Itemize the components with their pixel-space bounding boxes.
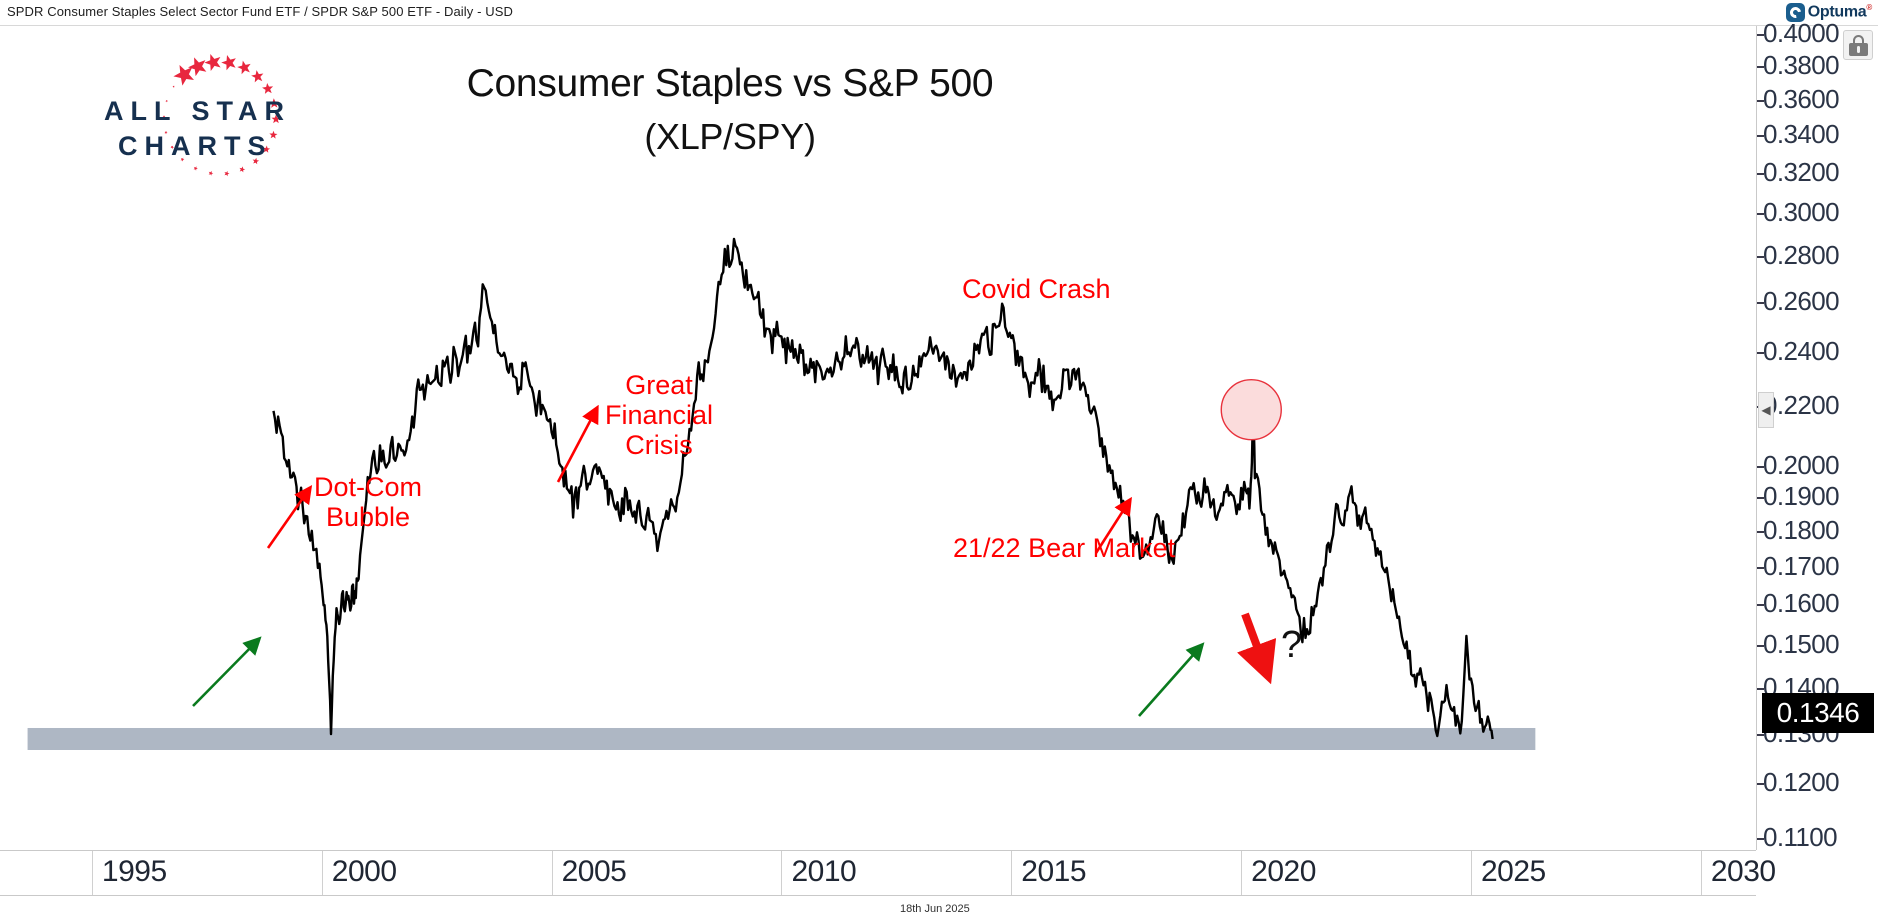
- logo-star-icon: [251, 70, 263, 82]
- annotation-covid-crash[interactable]: Covid Crash: [962, 274, 1111, 304]
- logo-star-icon: [239, 166, 245, 172]
- logo-star-icon: [188, 57, 206, 76]
- x-axis-tick: 1995: [92, 851, 93, 895]
- y-axis-tick-label: 0.3400: [1763, 119, 1839, 150]
- x-axis[interactable]: 19952000200520102015202020252030: [0, 850, 1756, 896]
- y-axis-tick-label: 0.3600: [1763, 84, 1839, 115]
- x-axis-tick: 2020: [1241, 851, 1242, 895]
- x-axis-tick: 2000: [322, 851, 323, 895]
- logo-star-icon: [209, 171, 214, 176]
- x-axis-tick-label: 1995: [102, 855, 167, 889]
- red-down-arrow[interactable]: [1245, 614, 1268, 676]
- x-axis-tick-label: 2025: [1481, 855, 1546, 889]
- covid-crash-circle[interactable]: [1221, 380, 1281, 440]
- x-axis-tick: 2025: [1471, 851, 1472, 895]
- gfc-arrow[interactable]: [558, 408, 597, 482]
- y-axis-tick-label: 0.2600: [1763, 286, 1839, 317]
- headline-line-2: (XLP/SPY): [380, 116, 1080, 158]
- green-arrow-left[interactable]: [193, 639, 259, 706]
- x-axis-tick: 2010: [781, 851, 782, 895]
- chart-application: SPDR Consumer Staples Select Sector Fund…: [0, 0, 1878, 924]
- y-axis-tick-label: 0.3800: [1763, 50, 1839, 81]
- x-axis-tick: 2030: [1701, 851, 1702, 895]
- green-arrow-right[interactable]: [1139, 645, 1202, 716]
- y-axis-tick-label: 0.2800: [1763, 240, 1839, 271]
- instrument-title: SPDR Consumer Staples Select Sector Fund…: [7, 4, 513, 19]
- annotation-bear-market[interactable]: 21/22 Bear Market: [953, 533, 1175, 563]
- logo-star-icon: [262, 83, 273, 94]
- window-title-bar: SPDR Consumer Staples Select Sector Fund…: [0, 0, 1878, 26]
- y-axis-tick-label: 0.1800: [1763, 515, 1839, 546]
- last-price-tag: 0.1346: [1762, 693, 1874, 733]
- x-axis-tick-label: 2030: [1711, 855, 1776, 889]
- x-axis-tick: 2005: [552, 851, 553, 895]
- annotation-great-financial-crisis[interactable]: Great Financial Crisis: [605, 370, 713, 461]
- logo-star-icon: [204, 54, 220, 71]
- y-axis-tick-label: 0.1200: [1763, 767, 1839, 798]
- y-axis-tick-label: 0.1900: [1763, 481, 1839, 512]
- logo-star-icon: [221, 55, 236, 70]
- all-star-charts-logo: ALL STAR CHARTS: [96, 52, 314, 182]
- annotation-dot-com-bubble[interactable]: Dot-Com Bubble: [314, 472, 422, 532]
- logo-star-icon: [224, 171, 229, 176]
- y-axis-tick-label: 0.1500: [1763, 629, 1839, 660]
- chart-headline: Consumer Staples vs S&P 500 (XLP/SPY): [380, 62, 1080, 158]
- date-stamp: 18th Jun 2025: [900, 903, 970, 915]
- panel-collapse-icon[interactable]: ◀: [1758, 392, 1774, 428]
- x-axis-tick-label: 2005: [562, 855, 627, 889]
- y-axis-tick-label: 0.2200: [1763, 390, 1839, 421]
- x-axis-tick-label: 2000: [332, 855, 397, 889]
- logo-line-2: CHARTS: [118, 131, 273, 162]
- headline-line-1: Consumer Staples vs S&P 500: [380, 62, 1080, 106]
- y-axis-tick-label: 0.1100: [1763, 822, 1837, 853]
- support-zone-band[interactable]: [28, 728, 1536, 750]
- annotation-question-mark[interactable]: ?: [1281, 624, 1302, 667]
- y-axis-tick-label: 0.1700: [1763, 551, 1839, 582]
- logo-star-icon: [194, 166, 198, 170]
- y-axis-tick-label: 0.2400: [1763, 336, 1839, 367]
- y-axis-tick-label: 0.3200: [1763, 157, 1839, 188]
- price-line-series: [274, 239, 1493, 739]
- logo-star-icon: [237, 61, 250, 75]
- axis-lock-icon[interactable]: [1843, 30, 1873, 60]
- y-axis-tick-label: 0.2000: [1763, 450, 1839, 481]
- x-axis-tick-label: 2010: [791, 855, 856, 889]
- logo-star-icon: [172, 86, 174, 88]
- y-axis-tick-label: 0.1600: [1763, 588, 1839, 619]
- x-axis-tick-label: 2020: [1251, 855, 1316, 889]
- logo-line-1: ALL STAR: [104, 96, 291, 127]
- dot-com-arrow[interactable]: [268, 488, 310, 548]
- x-axis-tick-label: 2015: [1021, 855, 1086, 889]
- y-axis-tick-label: 0.3000: [1763, 197, 1839, 228]
- y-axis-tick-label: 0.4000: [1763, 18, 1839, 49]
- x-axis-tick: 2015: [1011, 851, 1012, 895]
